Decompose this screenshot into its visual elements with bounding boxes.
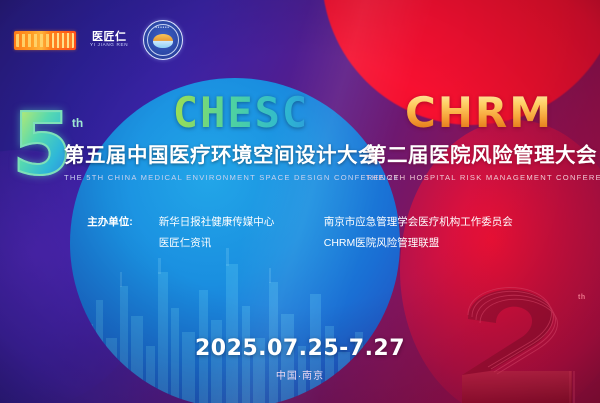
chrm-title-zh: 第二届医院风险管理大会 — [366, 138, 592, 168]
chesc-title-zh: 第五届中国医疗环境空间设计大会 — [64, 138, 360, 168]
chrm-conference-block: CHRM 第二届医院风险管理大会 THE 2TH HOSPITAL RISK M… — [366, 92, 592, 182]
poster-content: 5 th CHESC 第五届中国医疗环境空间设计大会 THE 5TH CHINA… — [0, 0, 600, 403]
organizer-item: 南京市应急管理学会医疗机构工作委员会 — [324, 212, 513, 233]
event-date-section: 2025.07.25-7.27 中国·南京 — [0, 336, 600, 382]
organizers-section: 主办单位: 新华日报社健康传媒中心 医匠仁资讯 南京市应急管理学会医疗机构工作委… — [0, 212, 600, 254]
chrm-title-en: THE 2TH HOSPITAL RISK MANAGEMENT CONFERE… — [366, 173, 592, 182]
chesc-acronym: CHESC — [122, 92, 360, 134]
yijiangren-logo-en: YI JIANG REN — [90, 44, 128, 49]
event-date: 2025.07.25-7.27 — [0, 336, 600, 361]
event-location: 中国·南京 — [0, 367, 600, 382]
organizer-item: 新华日报社健康传媒中心 — [159, 212, 324, 233]
organizers-grid: 主办单位: 新华日报社健康传媒中心 医匠仁资讯 南京市应急管理学会医疗机构工作委… — [87, 212, 513, 254]
emblem-crest-icon — [153, 34, 173, 48]
conference-poster: th 医匠仁 YI JIANG REN ●●●●●● 5 th CHESC 第五… — [0, 0, 600, 403]
organizer-item: 医匠仁资讯 — [159, 233, 324, 254]
xinhua-daily-health-logo[interactable] — [14, 31, 76, 50]
organizer-item: CHRM医院风险管理联盟 — [324, 233, 513, 254]
organizers-column-one: 新华日报社健康传媒中心 医匠仁资讯 — [159, 212, 324, 254]
chrm-acronym: CHRM — [366, 92, 592, 134]
emblem-arc-text: ●●●●●● — [144, 25, 182, 29]
chesc-conference-block: CHESC 第五届中国医疗环境空间设计大会 THE 5TH CHINA MEDI… — [64, 92, 360, 182]
edition-number-digit: 5 — [12, 108, 70, 184]
organizers-column-two: 南京市应急管理学会医疗机构工作委员会 CHRM医院风险管理联盟 — [324, 212, 513, 254]
chesc-title-en: THE 5TH CHINA MEDICAL ENVIRONMENT SPACE … — [64, 173, 360, 182]
sponsor-logos-row: 医匠仁 YI JIANG REN ●●●●●● — [14, 20, 183, 60]
organizers-label: 主办单位: — [87, 212, 133, 254]
yijiangren-logo[interactable]: 医匠仁 YI JIANG REN — [92, 32, 127, 47]
association-circular-emblem[interactable]: ●●●●●● — [143, 20, 183, 60]
